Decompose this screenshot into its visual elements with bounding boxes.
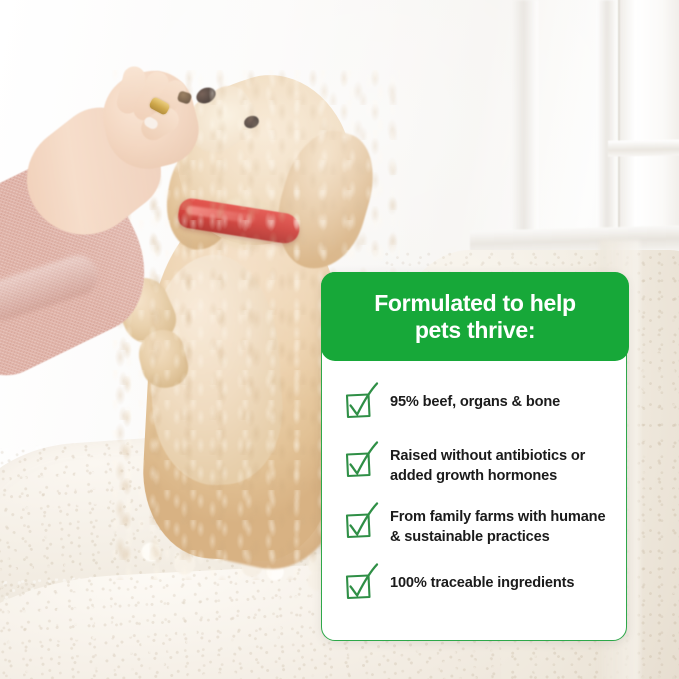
wall-molding <box>618 0 679 250</box>
checkbox-checked-icon <box>342 448 382 484</box>
molding-lip <box>608 139 679 156</box>
checkbox-checked-icon <box>342 509 382 545</box>
checkbox-checked-icon <box>342 389 382 425</box>
list-item-label: Raised without antibiotics or added grow… <box>390 447 610 486</box>
checkbox-checked-icon <box>342 570 382 606</box>
list-item-label: 95% beef, organs & bone <box>390 388 610 413</box>
product-lifestyle-image: Formulated to help pets thrive: 95% beef… <box>0 0 679 679</box>
list-item: Raised without antibiotics or added grow… <box>342 447 610 486</box>
list-item-label: 100% traceable ingredients <box>390 569 610 594</box>
benefits-card: Formulated to help pets thrive: 95% beef… <box>321 272 627 641</box>
benefits-list: 95% beef, organs & bone Raised without a… <box>322 362 626 640</box>
list-item: From family farms with humane & sustaina… <box>342 508 610 547</box>
list-item: 95% beef, organs & bone <box>342 388 610 425</box>
list-item-label: From family farms with humane & sustaina… <box>390 508 610 547</box>
list-item: 100% traceable ingredients <box>342 569 610 606</box>
benefits-card-title: Formulated to help pets thrive: <box>341 290 609 344</box>
benefits-card-header: Formulated to help pets thrive: <box>321 272 629 361</box>
